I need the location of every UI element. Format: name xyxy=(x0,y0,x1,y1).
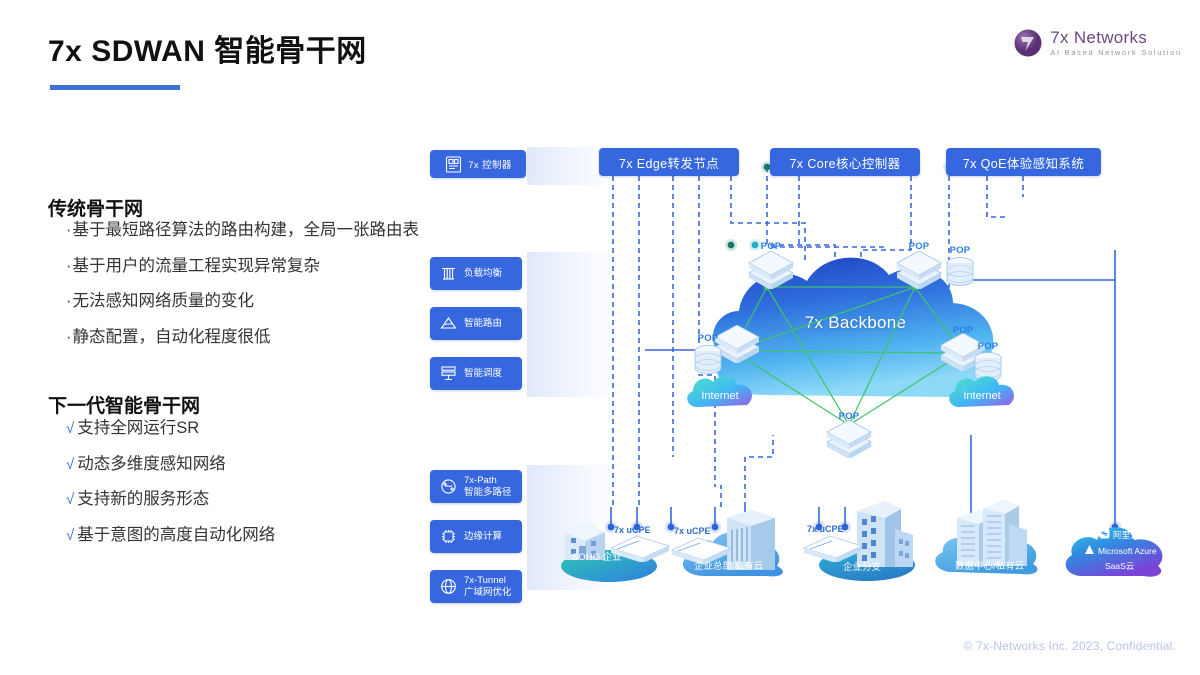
title-underline-rule xyxy=(50,85,180,90)
section-heading-nextgen: 下一代智能骨干网 xyxy=(48,391,200,418)
bullet-marker-icon: · xyxy=(66,257,72,275)
pop-db-node xyxy=(943,255,977,294)
saas-label: SaaS云 xyxy=(1105,560,1134,572)
internet-label: Internet xyxy=(949,379,1015,413)
nextgen-bullet-list: √支持全网运行SR √动态多维度感知网络 √支持新的服务形态 √基于意图的高度自… xyxy=(66,420,275,562)
pop-node xyxy=(745,251,797,294)
check-marker-icon: √ xyxy=(66,420,74,437)
list-item: ·无法感知网络质量的变化 xyxy=(66,293,419,310)
saas-azure-line: Microsoft Azure xyxy=(1084,544,1157,557)
bullet-marker-icon: · xyxy=(66,221,72,239)
list-item-label: 动态多维度感知网络 xyxy=(77,455,226,473)
pop-node xyxy=(893,251,945,294)
pop-label: POP xyxy=(688,333,728,344)
pop-label: POP xyxy=(717,317,757,328)
architecture-diagram: 7x Backbone POP xyxy=(415,135,1190,610)
backbone-mesh xyxy=(415,135,1190,610)
list-item: √支持全网运行SR xyxy=(66,420,275,437)
7x-swirl-logo-icon xyxy=(1013,28,1043,58)
list-item-label: 支持全网运行SR xyxy=(77,419,199,437)
page-title: 7x SDWAN 智能骨干网 xyxy=(48,26,367,70)
list-item: ·静态配置，自动化程度很低 xyxy=(66,329,419,346)
pop-label: POP xyxy=(899,241,939,252)
pop-label: POP xyxy=(829,411,869,422)
check-marker-icon: √ xyxy=(66,491,74,508)
list-item-label: 无法感知网络质量的变化 xyxy=(73,292,255,310)
brand-logo: 7x Networks AI Based Network Solution xyxy=(1013,28,1182,58)
list-item-label: 静态配置，自动化程度很低 xyxy=(73,328,271,346)
list-item: √基于意图的高度自动化网络 xyxy=(66,527,275,544)
list-item-label: 基于意图的高度自动化网络 xyxy=(77,526,275,544)
section-heading-legacy: 传统骨干网 xyxy=(48,194,143,221)
list-item: √动态多维度感知网络 xyxy=(66,456,275,473)
list-item-label: 支持新的服务形态 xyxy=(77,490,209,508)
legacy-bullet-list: ·基于最短路径算法的路由构建，全局一张路由表 ·基于用户的流量工程实现异常复杂 … xyxy=(66,222,419,364)
saas-type-line: SaaS云 xyxy=(1105,560,1134,572)
internet-label: Internet xyxy=(687,379,753,413)
bullet-marker-icon: · xyxy=(66,328,72,346)
logo-company-name: 7x Networks xyxy=(1050,29,1182,46)
list-item: ·基于用户的流量工程实现异常复杂 xyxy=(66,258,419,275)
footer-copyright: © 7x-Networks Inc. 2023, Confidential. xyxy=(963,639,1176,653)
azure-icon xyxy=(1084,544,1095,557)
list-item: ·基于最短路径算法的路由构建，全局一张路由表 xyxy=(66,222,419,239)
list-item-label: 基于用户的流量工程实现异常复杂 xyxy=(73,257,321,275)
saas-label: Microsoft Azure xyxy=(1098,546,1157,556)
pop-label: POP xyxy=(968,341,1008,352)
pop-label: POP xyxy=(751,241,791,252)
list-item-label: 基于最短路径算法的路由构建，全局一张路由表 xyxy=(73,221,420,239)
aliyun-icon xyxy=(1099,528,1110,541)
pop-label: POP xyxy=(943,325,983,336)
pop-node xyxy=(823,420,875,463)
check-marker-icon: √ xyxy=(66,456,74,473)
saas-aliyun-line: 阿里云 xyxy=(1099,528,1139,541)
bullet-marker-icon: · xyxy=(66,292,72,310)
check-marker-icon: √ xyxy=(66,527,74,544)
saas-label: 阿里云 xyxy=(1113,529,1139,541)
list-item: √支持新的服务形态 xyxy=(66,491,275,508)
logo-tagline: AI Based Network Solution xyxy=(1050,49,1182,57)
pop-label: POP xyxy=(940,245,980,256)
